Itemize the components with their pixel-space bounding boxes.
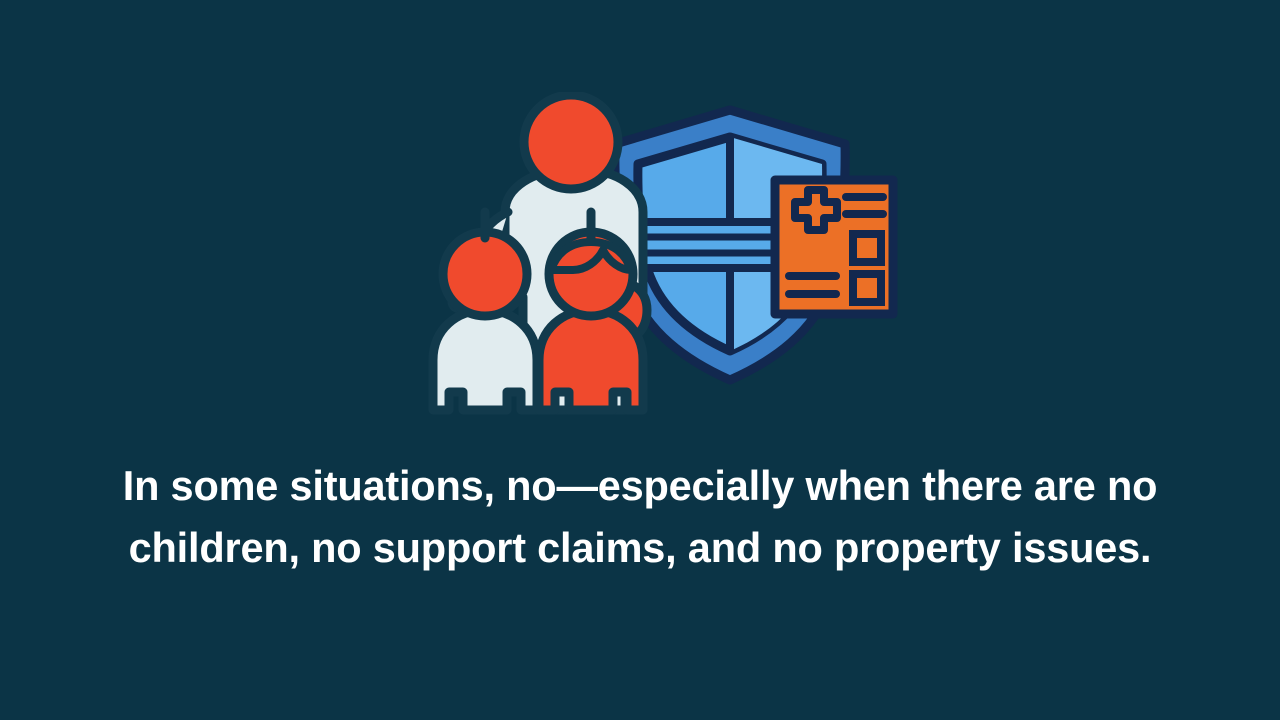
boy-body <box>433 310 537 410</box>
slide-canvas: In some situations, no—especially when t… <box>0 0 1280 720</box>
caption-line-1: In some situations, no—especially when t… <box>56 455 1224 517</box>
card-checkbox-1 <box>853 234 881 262</box>
card-checkbox-2 <box>853 274 881 302</box>
stripe-band-outline <box>636 222 786 268</box>
shield-stripe-band <box>636 222 786 268</box>
girl-body <box>539 310 643 410</box>
adult-head <box>524 95 618 189</box>
insurance-document-card <box>775 180 893 314</box>
boy-head <box>443 232 527 316</box>
family-with-insurance-shield-illustration <box>375 92 905 432</box>
caption-line-2: children, no support claims, and no prop… <box>56 517 1224 579</box>
illustration-container <box>0 92 1280 432</box>
caption-block: In some situations, no—especially when t… <box>0 455 1280 579</box>
